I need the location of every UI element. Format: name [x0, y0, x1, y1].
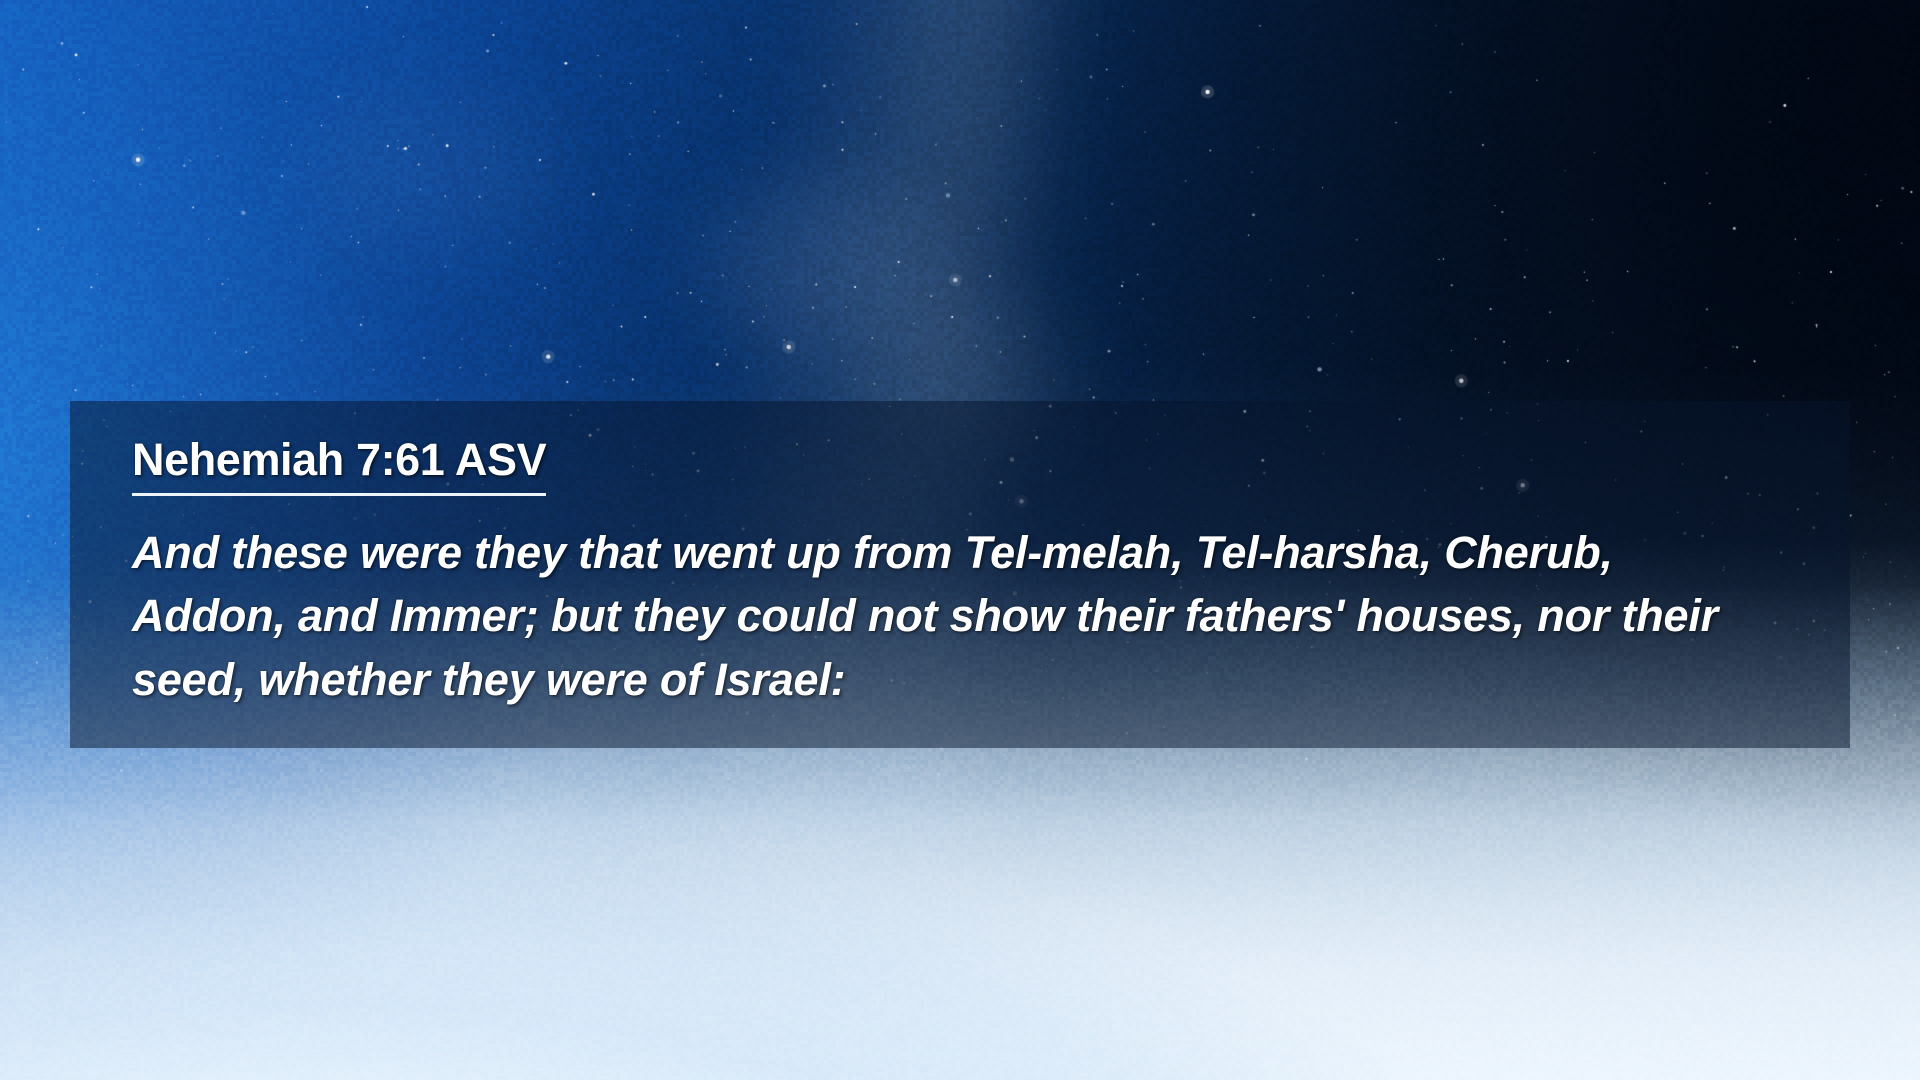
verse-image-scene: Nehemiah 7:61 ASV And these were they th… — [0, 0, 1920, 1080]
verse-reference: Nehemiah 7:61 ASV — [132, 437, 546, 496]
verse-quote-card: Nehemiah 7:61 ASV And these were they th… — [70, 401, 1850, 748]
verse-text: And these were they that went up from Te… — [132, 521, 1732, 711]
